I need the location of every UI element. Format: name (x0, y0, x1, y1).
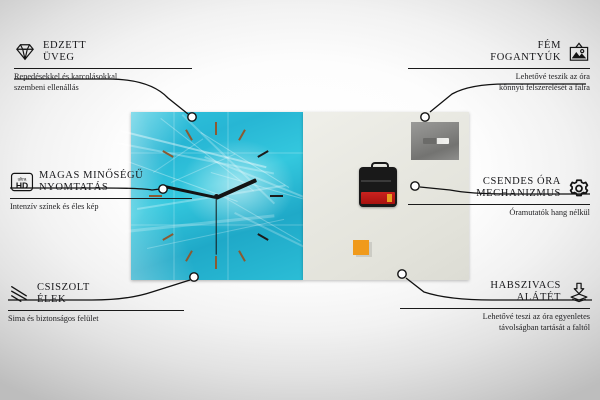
hanger-slot (423, 138, 449, 144)
infographic-canvas: EDZETT ÜVEG Repedésekkel és karcolásokka… (0, 0, 600, 400)
callout-high-quality-print: ultra HD MAGAS MINŐSÉGŰ NYOMTATÁS Intenz… (10, 170, 192, 213)
callout-metal-handles: FÉM FOGANTYÚK Lehetővé teszik az óra kön… (408, 40, 590, 93)
callout-title: HABSZIVACS ALÁTÉT (490, 280, 561, 305)
callout-description: Sima és biztonságos felület (8, 314, 184, 325)
callout-silent-mechanism: CSENDES ÓRA MECHANIZMUS Óramutatók hang … (408, 176, 590, 219)
clock-tick (215, 256, 217, 269)
clock-tick (257, 233, 268, 241)
callout-description: Lehetővé teszi az óra egyenletes távolsá… (400, 312, 590, 334)
callout-divider (408, 68, 590, 69)
clock-tick (238, 129, 246, 140)
callout-polished-edges: CSISZOLT ÉLEK Sima és biztonságos felüle… (8, 282, 184, 325)
callout-title: EDZETT ÜVEG (43, 40, 86, 65)
clock-tick (185, 250, 193, 261)
callout-foam-pad: HABSZIVACS ALÁTÉT Lehetővé teszi az óra … (400, 280, 590, 333)
metal-hanger (411, 122, 459, 160)
callout-header: ultra HD MAGAS MINŐSÉGŰ NYOMTATÁS (10, 170, 192, 195)
callout-title: CSENDES ÓRA MECHANIZMUS (476, 176, 561, 201)
callout-tempered-glass: EDZETT ÜVEG Repedésekkel és karcolásokka… (14, 40, 192, 93)
callout-header: FÉM FOGANTYÚK (408, 40, 590, 65)
callout-description: Óramutatók hang nélkül (408, 208, 590, 219)
clock-tick (162, 233, 173, 241)
foam-spacer-pad (353, 240, 369, 255)
callout-title: MAGAS MINŐSÉGŰ NYOMTATÁS (39, 170, 143, 195)
clock-tick (270, 195, 283, 197)
ultra-hd-badge-icon: ultra HD (10, 172, 32, 192)
callout-description: Repedésekkel és karcolásokkal szembeni e… (14, 72, 192, 94)
callout-header: EDZETT ÜVEG (14, 40, 192, 65)
mechanism-seam (361, 180, 391, 182)
battery-terminal (387, 194, 392, 202)
callout-divider (10, 198, 192, 199)
diamond-icon (14, 42, 36, 62)
gear-icon (568, 178, 590, 198)
battery (361, 192, 395, 204)
clock-second-hand (215, 197, 216, 255)
clock-tick (215, 122, 217, 135)
callout-divider (408, 204, 590, 205)
callout-divider (8, 310, 184, 311)
polished-edge-icon (8, 284, 30, 304)
quartz-mechanism (359, 167, 397, 207)
picture-hanger-icon (568, 42, 590, 62)
callout-description: Intenzív színek és éles kép (10, 202, 192, 213)
callout-description: Lehetővé teszik az óra könnyű felszerelé… (408, 72, 590, 94)
callout-title: CSISZOLT ÉLEK (37, 282, 90, 307)
clock-tick (238, 250, 246, 261)
callout-header: CSISZOLT ÉLEK (8, 282, 184, 307)
clock-center-pin (214, 194, 219, 199)
press-down-layers-icon (568, 282, 590, 302)
callout-divider (14, 68, 192, 69)
callout-header: CSENDES ÓRA MECHANIZMUS (408, 176, 590, 201)
svg-text:HD: HD (16, 181, 28, 191)
mechanism-hook (371, 162, 389, 172)
callout-divider (400, 308, 590, 309)
callout-title: FÉM FOGANTYÚK (490, 40, 561, 65)
callout-header: HABSZIVACS ALÁTÉT (400, 280, 590, 305)
